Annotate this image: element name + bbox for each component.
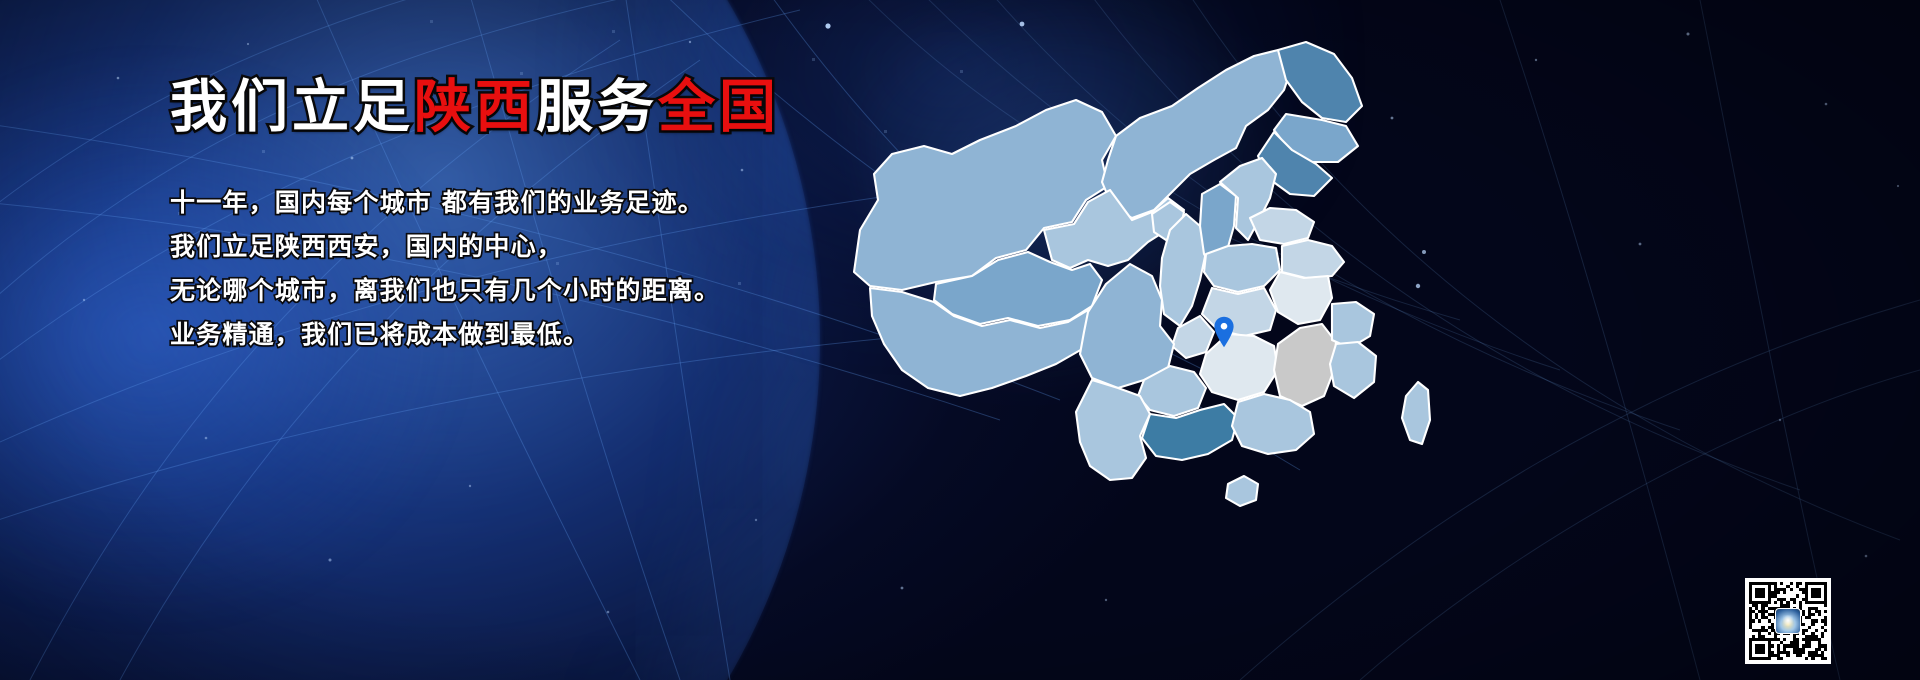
body-line-4: 业务精通，我们已将成本做到最低。 xyxy=(170,313,930,357)
province-henan xyxy=(1204,244,1280,292)
body-copy: 十一年，国内每个城市 都有我们的业务足迹。 我们立足陕西西安，国内的中心， 无论… xyxy=(170,181,930,357)
province-fujian xyxy=(1330,342,1376,398)
location-pin-icon xyxy=(1212,316,1236,348)
page-title: 我们立足陕西服务全国 xyxy=(170,78,930,137)
province-taiwan xyxy=(1402,382,1430,444)
province-zhejiang xyxy=(1332,302,1374,348)
province-yunnan xyxy=(1076,380,1150,480)
headline-part-1: 我们立足 xyxy=(170,74,414,140)
body-line-3: 无论哪个城市，离我们也只有几个小时的距离。 xyxy=(170,269,930,313)
banner-stage: 我们立足陕西服务全国 十一年，国内每个城市 都有我们的业务足迹。 我们立足陕西西… xyxy=(0,0,1920,680)
china-map xyxy=(840,14,1500,574)
copy-block: 我们立足陕西服务全国 十一年，国内每个城市 都有我们的业务足迹。 我们立足陕西西… xyxy=(170,78,930,357)
province-jiangsu xyxy=(1282,240,1344,278)
headline-part-3: 服务 xyxy=(536,74,658,140)
body-line-2: 我们立足陕西西安，国内的中心， xyxy=(170,225,930,269)
province-hainan xyxy=(1226,476,1258,506)
headline-part-4: 全国 xyxy=(658,74,780,140)
qr-center-logo xyxy=(1775,608,1801,634)
province-heilongjiang xyxy=(1278,42,1362,122)
province-jiangxi xyxy=(1274,324,1336,406)
headline-part-2: 陕西 xyxy=(414,74,536,140)
province-anhui xyxy=(1270,272,1332,324)
wechat-qr-code[interactable] xyxy=(1745,578,1831,664)
body-line-1: 十一年，国内每个城市 都有我们的业务足迹。 xyxy=(170,181,930,225)
province-shandong xyxy=(1250,208,1314,244)
